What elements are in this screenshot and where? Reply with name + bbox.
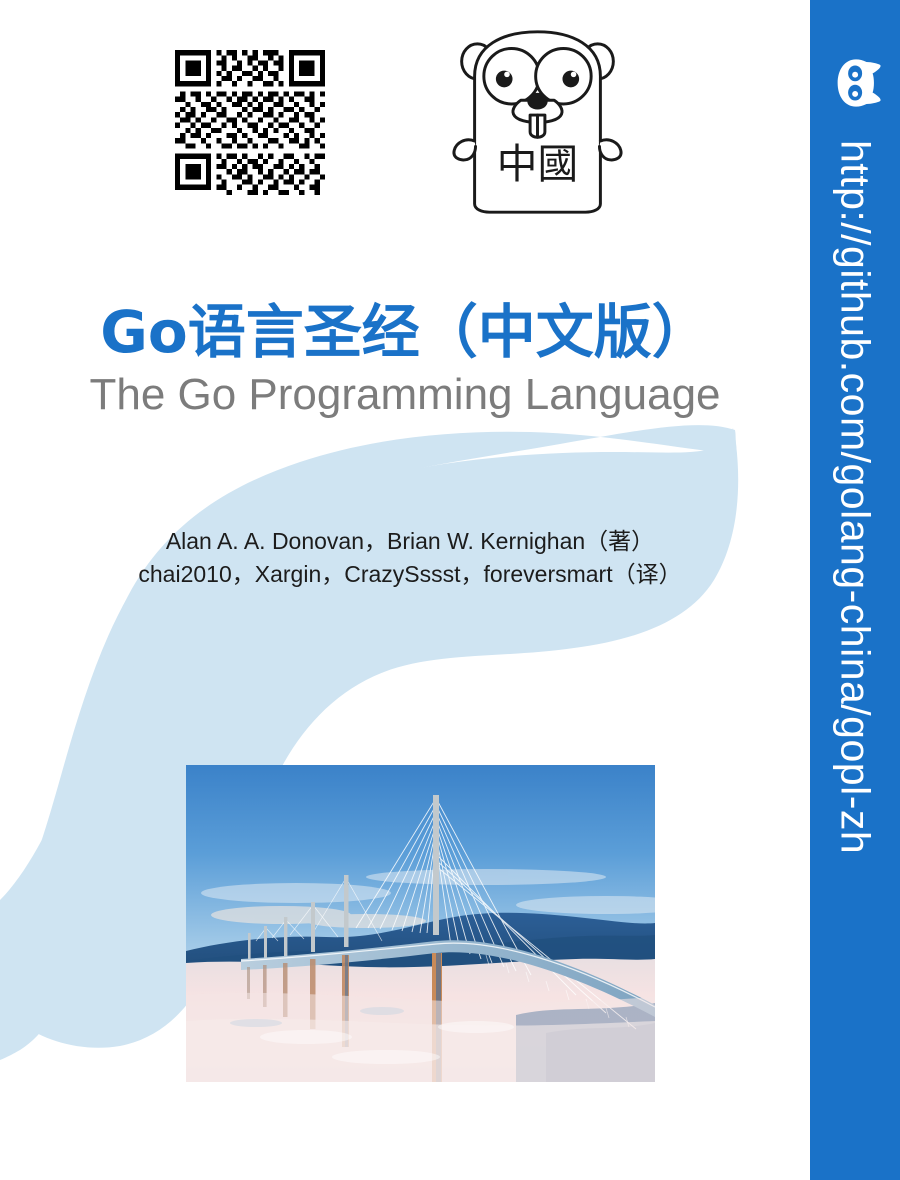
book-title-english: The Go Programming Language xyxy=(0,371,810,419)
author-line-translators: chai2010，Xargin，CrazySssst，foreversmart（… xyxy=(0,558,820,591)
gopher-belly-text: 中國 xyxy=(497,140,578,188)
github-sidebar: http://github.com/golang-china/gopl-zh xyxy=(810,0,900,1180)
github-url-text[interactable]: http://github.com/golang-china/gopl-zh xyxy=(832,140,879,854)
author-block: Alan A. A. Donovan，Brian W. Kernighan（著）… xyxy=(0,525,820,592)
title-block: Go语言圣经（中文版） The Go Programming Language xyxy=(0,300,810,419)
go-gopher-mascot: 中國 xyxy=(445,22,630,222)
millau-viaduct-photo xyxy=(186,765,655,1082)
book-title-chinese: Go语言圣经（中文版） xyxy=(0,300,810,365)
author-line-original: Alan A. A. Donovan，Brian W. Kernighan（著） xyxy=(0,525,820,558)
octocat-icon xyxy=(828,55,884,111)
book-cover: 中國 Go语言圣经（中文版） The Go Programming Langua… xyxy=(0,0,900,1180)
qr-code[interactable] xyxy=(175,25,325,215)
github-url-wrapper[interactable]: http://github.com/golang-china/gopl-zh xyxy=(810,140,900,1140)
